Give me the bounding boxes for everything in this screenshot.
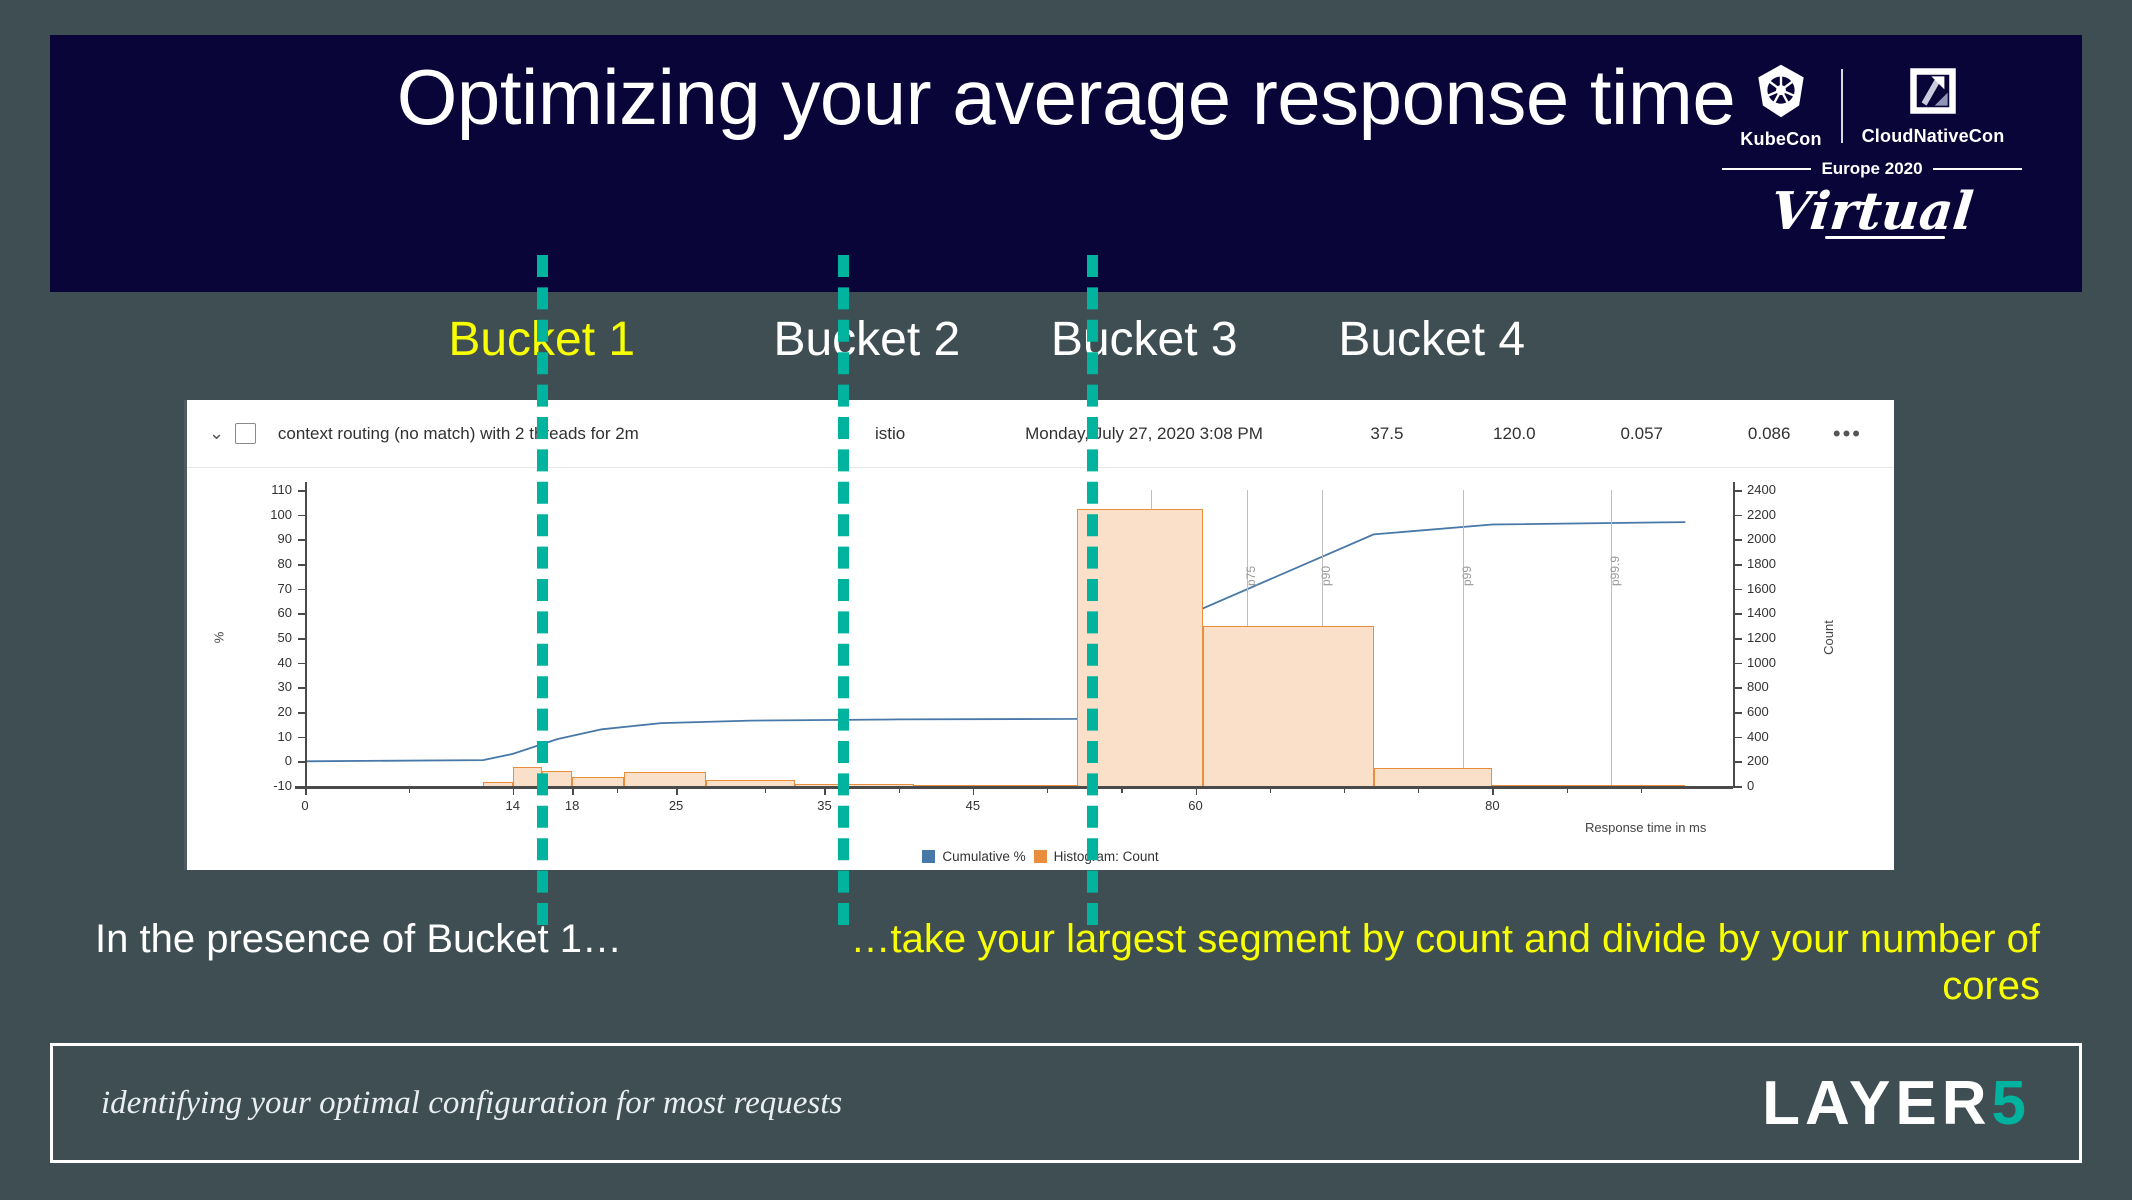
bucket-divider-3 xyxy=(1087,255,1098,925)
legend-swatch-1 xyxy=(1034,850,1047,863)
y-tick-100 xyxy=(298,515,305,517)
y2-tick-label-1600: 1600 xyxy=(1747,581,1776,596)
y-tick-110 xyxy=(298,490,305,492)
y2-tick-2000 xyxy=(1735,539,1742,541)
y2-tick-label-600: 600 xyxy=(1747,704,1769,719)
chart-legend: Cumulative %Histogram: Count xyxy=(187,849,1894,864)
metric-max: 120.0 xyxy=(1451,424,1578,444)
y2-tick-800 xyxy=(1735,687,1742,689)
x-axis xyxy=(295,786,1733,789)
percentile-label-p75: p75 xyxy=(1244,566,1258,586)
cloud-native-square-icon xyxy=(1907,65,1959,122)
bucket-label-row: Bucket 1Bucket 2Bucket 3Bucket 4 xyxy=(50,292,2082,396)
percentile-label-p90: p90 xyxy=(1319,566,1333,586)
percentile-line-p99.9 xyxy=(1611,490,1612,786)
histogram-bar-10 xyxy=(1374,768,1493,787)
x-tick-14 xyxy=(513,788,515,795)
timestamp: Monday, July 27, 2020 3:08 PM xyxy=(965,424,1323,444)
x-minor-tick xyxy=(1121,788,1122,793)
y-axis-label: % xyxy=(211,632,226,644)
x-minor-tick xyxy=(1567,788,1568,793)
y2-tick-label-200: 200 xyxy=(1747,753,1769,768)
format-label: Virtual xyxy=(1768,181,1976,242)
bucket-label-3: Bucket 3 xyxy=(1019,312,1269,367)
bucket-label-4: Bucket 4 xyxy=(1269,312,1594,367)
y2-tick-label-800: 800 xyxy=(1747,679,1769,694)
y2-tick-label-0: 0 xyxy=(1747,778,1754,793)
bucket-label-2: Bucket 2 xyxy=(714,312,1019,367)
logo-marks: KubeCon CloudNativeCon xyxy=(1731,60,2013,152)
x-tick-label-0: 0 xyxy=(275,798,335,813)
y-tick-30 xyxy=(298,687,305,689)
kubecon-block: KubeCon xyxy=(1731,62,1831,150)
footer-subtitle: identifying your optimal configuration f… xyxy=(101,1085,842,1122)
kubernetes-helm-icon xyxy=(1752,62,1810,125)
y2-tick-1000 xyxy=(1735,663,1742,665)
result-row[interactable]: ⌄ context routing (no match) with 2 thre… xyxy=(187,400,1894,468)
y-tick-label-80: 80 xyxy=(187,556,292,571)
y-axis-left xyxy=(305,482,307,788)
x-tick-25 xyxy=(676,788,678,795)
y-tick-label-10: 10 xyxy=(187,729,292,744)
y2-tick-label-1400: 1400 xyxy=(1747,605,1776,620)
x-axis-label: Response time in ms xyxy=(1585,820,1706,835)
x-minor-tick xyxy=(1270,788,1271,793)
x-tick-label-45: 45 xyxy=(943,798,1003,813)
y-tick--10 xyxy=(298,786,305,788)
legend-text-0: Cumulative % xyxy=(942,849,1025,864)
y2-tick-0 xyxy=(1735,786,1742,788)
percentile-label-p99.9: p99.9 xyxy=(1608,556,1622,586)
y-tick-20 xyxy=(298,712,305,714)
caption-right: …take your largest segment by count and … xyxy=(800,916,2040,1010)
y-tick-label-60: 60 xyxy=(187,605,292,620)
y-tick-label-30: 30 xyxy=(187,679,292,694)
x-tick-60 xyxy=(1196,788,1198,795)
layer5-logo: LAYER5 xyxy=(1762,1068,2031,1139)
y-tick-0 xyxy=(298,761,305,763)
title-banner: Optimizing your average response time xyxy=(50,35,2082,292)
bucket-divider-2 xyxy=(838,255,849,925)
rule-right xyxy=(1933,168,2022,170)
y-tick-label--10: -10 xyxy=(187,778,292,793)
x-tick-label-80: 80 xyxy=(1462,798,1522,813)
x-minor-tick xyxy=(1418,788,1419,793)
y2-tick-200 xyxy=(1735,761,1742,763)
caption-left: In the presence of Bucket 1… xyxy=(95,916,795,963)
x-tick-label-25: 25 xyxy=(646,798,706,813)
x-minor-tick xyxy=(899,788,900,793)
x-tick-label-14: 14 xyxy=(483,798,543,813)
y-tick-50 xyxy=(298,638,305,640)
y2-tick-1400 xyxy=(1735,613,1742,615)
more-options-icon[interactable]: ••• xyxy=(1833,421,1872,447)
chart-canvas xyxy=(187,468,1894,870)
bucket-divider-1 xyxy=(537,255,548,925)
y2-tick-label-2000: 2000 xyxy=(1747,531,1776,546)
y2-tick-label-2200: 2200 xyxy=(1747,507,1776,522)
y2-tick-label-1000: 1000 xyxy=(1747,655,1776,670)
y-tick-80 xyxy=(298,564,305,566)
chevron-down-icon[interactable]: ⌄ xyxy=(209,423,235,444)
legend-item-0: Cumulative % xyxy=(922,849,1025,864)
legend-swatch-0 xyxy=(922,850,935,863)
logo-divider xyxy=(1841,69,1843,143)
y2-tick-1600 xyxy=(1735,589,1742,591)
y2-tick-label-400: 400 xyxy=(1747,729,1769,744)
layer5-digit: 5 xyxy=(1992,1068,2031,1139)
x-minor-tick xyxy=(409,788,410,793)
y2-tick-label-1800: 1800 xyxy=(1747,556,1776,571)
x-minor-tick xyxy=(617,788,618,793)
metric-p99: 0.086 xyxy=(1705,424,1832,444)
y-tick-70 xyxy=(298,589,305,591)
footer-bar: identifying your optimal configuration f… xyxy=(50,1043,2082,1163)
x-tick-80 xyxy=(1492,788,1494,795)
x-tick-35 xyxy=(824,788,826,795)
x-minor-tick xyxy=(765,788,766,793)
y2-tick-400 xyxy=(1735,737,1742,739)
layer5-wordmark: LAYER xyxy=(1762,1068,1991,1139)
histogram-bar-4 xyxy=(624,772,706,786)
x-tick-0 xyxy=(305,788,307,795)
kubecon-label: KubeCon xyxy=(1740,129,1821,150)
y-tick-90 xyxy=(298,539,305,541)
y-axis-right xyxy=(1733,482,1735,788)
histogram-bar-3 xyxy=(572,777,624,786)
y-tick-60 xyxy=(298,613,305,615)
y2-tick-label-2400: 2400 xyxy=(1747,482,1776,497)
checkbox-unchecked-icon[interactable] xyxy=(235,423,256,444)
histogram-bar-9 xyxy=(1203,626,1374,786)
cumulative-percent-line xyxy=(305,522,1685,761)
percentile-line-p99 xyxy=(1463,490,1464,786)
x-tick-18 xyxy=(572,788,574,795)
legend-text-1: Histogram: Count xyxy=(1054,849,1159,864)
y-tick-10 xyxy=(298,737,305,739)
y-tick-label-70: 70 xyxy=(187,581,292,596)
percentile-label-p99: p99 xyxy=(1460,566,1474,586)
x-minor-tick xyxy=(1047,788,1048,793)
histogram-chart: Cumulative %Histogram: Count p50p75p90p9… xyxy=(187,468,1894,870)
y-tick-40 xyxy=(298,663,305,665)
y2-tick-label-1200: 1200 xyxy=(1747,630,1776,645)
edition-row: Europe 2020 xyxy=(1722,159,2022,179)
rule-left xyxy=(1722,168,1811,170)
y-tick-label-40: 40 xyxy=(187,655,292,670)
y2-tick-1800 xyxy=(1735,564,1742,566)
x-tick-label-60: 60 xyxy=(1166,798,1226,813)
y-tick-label-0: 0 xyxy=(187,753,292,768)
cloudnativecon-block: CloudNativeCon xyxy=(1853,65,2013,147)
metric-avg: 0.057 xyxy=(1578,424,1705,444)
cloudnativecon-label: CloudNativeCon xyxy=(1862,126,2005,147)
metric-qps: 37.5 xyxy=(1323,424,1450,444)
y-tick-label-90: 90 xyxy=(187,531,292,546)
y-tick-label-50: 50 xyxy=(187,630,292,645)
benchmark-result-card: ⌄ context routing (no match) with 2 thre… xyxy=(184,400,1894,870)
y-tick-label-110: 110 xyxy=(187,482,292,497)
y2-tick-1200 xyxy=(1735,638,1742,640)
x-tick-45 xyxy=(973,788,975,795)
y2-axis-label: Count xyxy=(1821,620,1836,655)
y2-tick-2200 xyxy=(1735,515,1742,517)
x-tick-label-18: 18 xyxy=(542,798,602,813)
x-minor-tick xyxy=(1344,788,1345,793)
y-tick-label-100: 100 xyxy=(187,507,292,522)
kubecon-cloudnativecon-logo: KubeCon CloudNativeCon Europe 2020 xyxy=(1722,60,2022,275)
y2-tick-600 xyxy=(1735,712,1742,714)
edition-label: Europe 2020 xyxy=(1811,159,1932,179)
x-minor-tick xyxy=(1641,788,1642,793)
y-tick-label-20: 20 xyxy=(187,704,292,719)
y2-tick-2400 xyxy=(1735,490,1742,492)
